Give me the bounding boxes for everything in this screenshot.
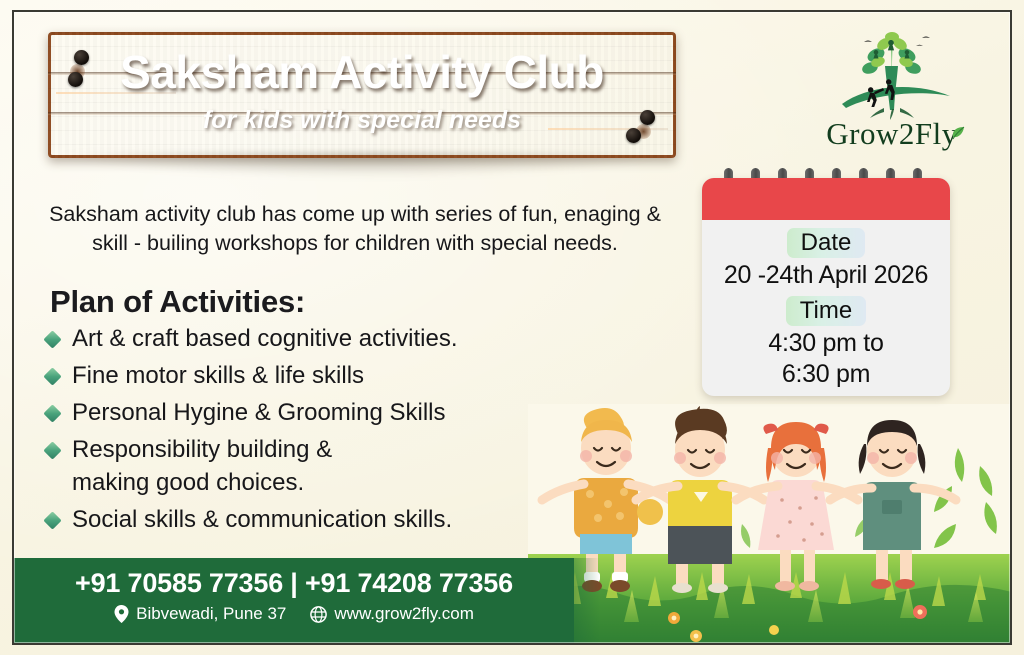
flyer-canvas: Saksham Activity Club for kids with spec… <box>0 0 1024 655</box>
wooden-sign-banner: Saksham Activity Club for kids with spec… <box>48 32 676 158</box>
location-pin-icon <box>114 605 129 623</box>
time-value-line2: 6:30 pm <box>702 360 950 388</box>
list-item: Social skills & communication skills. <box>44 503 604 536</box>
list-item-label: Social skills & communication skills. <box>72 506 452 533</box>
diamond-bullet-icon <box>43 511 61 529</box>
list-item: Responsibility building & making good ch… <box>44 433 604 499</box>
list-item: Personal Hygine & Grooming Skills <box>44 396 604 429</box>
phone-numbers: +91 70585 77356 | +91 74208 77356 <box>14 568 574 599</box>
date-value: 20 -24th April 2026 <box>702 261 950 290</box>
address-text: Bibvewadi, Pune 37 <box>136 604 286 624</box>
children-illustration <box>528 404 1012 645</box>
diamond-bullet-icon <box>43 367 61 385</box>
calendar-card: Date 20 -24th April 2026 Time 4:30 pm to… <box>702 178 950 396</box>
date-label-badge: Date <box>787 228 866 258</box>
website-text[interactable]: www.grow2fly.com <box>334 604 474 624</box>
list-item: Art & craft based cognitive activities. <box>44 322 604 355</box>
time-label-badge: Time <box>786 296 866 326</box>
page-title: Saksham Activity Club <box>48 45 676 99</box>
diamond-bullet-icon <box>43 404 61 422</box>
activities-list: Art & craft based cognitive activities. … <box>44 322 604 540</box>
diamond-bullet-icon <box>43 441 61 459</box>
list-item-label: Responsibility building & making good ch… <box>72 436 332 496</box>
list-item-label: Personal Hygine & Grooming Skills <box>72 399 446 426</box>
page-subtitle: for kids with special needs <box>48 106 676 135</box>
list-item: Fine motor skills & life skills <box>44 359 604 392</box>
footer-contact-row: Bibvewadi, Pune 37 www.grow2fly.com <box>14 604 574 624</box>
leaf-icon <box>950 126 966 144</box>
calendar-content: Date 20 -24th April 2026 Time 4:30 pm to… <box>702 220 950 388</box>
intro-paragraph: Saksham activity club has come up with s… <box>30 200 680 258</box>
brand-logo: Grow2Fly <box>812 22 972 162</box>
plan-heading: Plan of Activities: <box>50 284 305 320</box>
sign-board: Saksham Activity Club for kids with spec… <box>48 32 676 158</box>
logo-wordmark: Grow2Fly <box>812 116 972 152</box>
globe-icon <box>310 606 327 623</box>
list-item-label: Fine motor skills & life skills <box>72 362 364 389</box>
tree-with-people-logo-icon <box>812 22 972 122</box>
time-value-line1: 4:30 pm to <box>702 329 950 357</box>
list-item-label: Art & craft based cognitive activities. <box>72 325 458 352</box>
contact-footer: +91 70585 77356 | +91 74208 77356 Bibvew… <box>14 558 574 643</box>
diamond-bullet-icon <box>43 330 61 348</box>
calendar-header-bar <box>702 178 950 220</box>
calendar-body: Date 20 -24th April 2026 Time 4:30 pm to… <box>702 178 950 396</box>
